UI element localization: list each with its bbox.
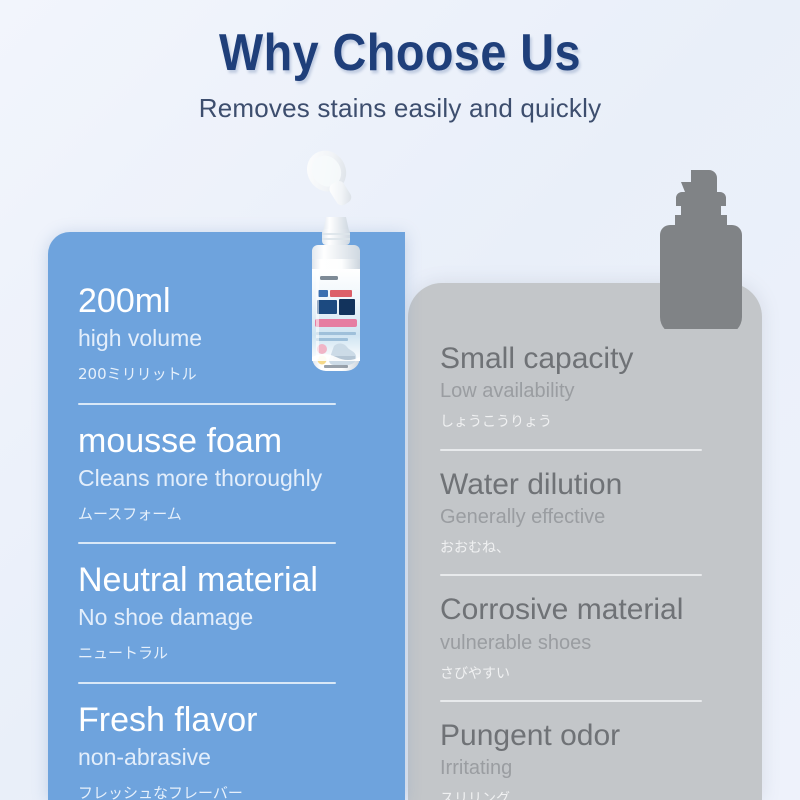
competitor-feature-list: Small capacity Low availability しょうこうりょう… — [408, 283, 762, 800]
list-item: Pungent odor Irritating スリリング — [440, 700, 738, 800]
list-item: mousse foam Cleans more thoroughly ムースフォ… — [78, 403, 381, 543]
list-item: Neutral material No shoe damage ニュートラル — [78, 542, 381, 682]
page-subtitle: Removes stains easily and quickly — [0, 81, 800, 124]
competitor-panel: Small capacity Low availability しょうこうりょう… — [408, 283, 762, 800]
list-item: Corrosive material vulnerable shoes さびやす… — [440, 574, 738, 700]
feature-title: Water dilution — [440, 451, 738, 502]
feature-japanese: フレッシュなフレーバー — [78, 773, 381, 800]
header: Why Choose Us Removes stains easily and … — [0, 0, 800, 124]
list-item: Fresh flavor non-abrasive フレッシュなフレーバー — [78, 682, 381, 800]
feature-japanese: スリリング — [440, 781, 738, 800]
feature-title: mousse foam — [78, 405, 381, 461]
feature-subtitle: Irritating — [440, 753, 738, 781]
infographic-poster: Why Choose Us Removes stains easily and … — [0, 0, 800, 800]
feature-title: Fresh flavor — [78, 684, 381, 740]
feature-subtitle: Cleans more thoroughly — [78, 461, 381, 494]
feature-title: Corrosive material — [440, 576, 738, 627]
feature-subtitle: non-abrasive — [78, 740, 381, 773]
feature-japanese: おおむね、 — [440, 530, 738, 574]
feature-title: Pungent odor — [440, 702, 738, 753]
feature-subtitle: vulnerable shoes — [440, 628, 738, 656]
feature-japanese: ニュートラル — [78, 633, 381, 682]
page-title: Why Choose Us — [40, 0, 760, 81]
feature-title: Neutral material — [78, 544, 381, 600]
feature-japanese: しょうこうりょう — [440, 404, 738, 448]
feature-japanese: さびやすい — [440, 656, 738, 700]
feature-subtitle: Generally effective — [440, 502, 738, 530]
feature-japanese: ムースフォーム — [78, 494, 381, 543]
feature-title: Small capacity — [440, 325, 738, 376]
gray-pump-bottle-silhouette-icon — [654, 166, 752, 329]
foam-pump-bottle-with-brush-icon — [300, 143, 372, 375]
list-item: Water dilution Generally effective おおむね、 — [440, 449, 738, 575]
list-item: Small capacity Low availability しょうこうりょう — [440, 325, 738, 449]
feature-subtitle: Low availability — [440, 376, 738, 404]
feature-subtitle: No shoe damage — [78, 600, 381, 633]
